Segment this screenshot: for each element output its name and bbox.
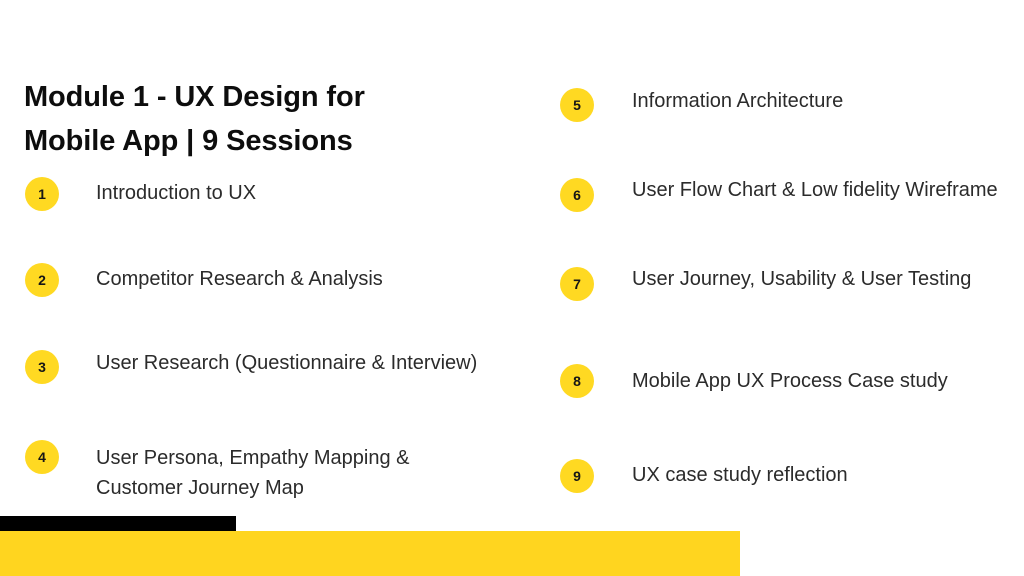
- item-label: Mobile App UX Process Case study: [632, 367, 1017, 397]
- item-label: UX case study reflection: [632, 461, 1017, 491]
- item-label: User Research (Questionnaire & Interview…: [96, 349, 496, 379]
- page-title: Module 1 - UX Design for Mobile App | 9 …: [24, 75, 494, 163]
- item-number-badge: 4: [25, 440, 59, 474]
- item-number-badge: 7: [560, 267, 594, 301]
- item-number-badge: 6: [560, 178, 594, 212]
- item-label: User Flow Chart & Low fidelity Wireframe: [632, 176, 1017, 206]
- item-label: User Persona, Empathy Mapping & Customer…: [96, 444, 496, 503]
- item-number-badge: 8: [560, 364, 594, 398]
- decorative-yellow-bar: [0, 531, 740, 576]
- item-number-badge: 2: [25, 263, 59, 297]
- slide-canvas: Module 1 - UX Design for Mobile App | 9 …: [0, 0, 1024, 576]
- item-number-badge: 5: [560, 88, 594, 122]
- item-label: Introduction to UX: [96, 179, 496, 209]
- item-label: Information Architecture: [632, 87, 1017, 117]
- item-number-badge: 3: [25, 350, 59, 384]
- item-label: Competitor Research & Analysis: [96, 265, 496, 295]
- item-label: User Journey, Usability & User Testing: [632, 265, 1017, 295]
- item-number-badge: 1: [25, 177, 59, 211]
- item-number-badge: 9: [560, 459, 594, 493]
